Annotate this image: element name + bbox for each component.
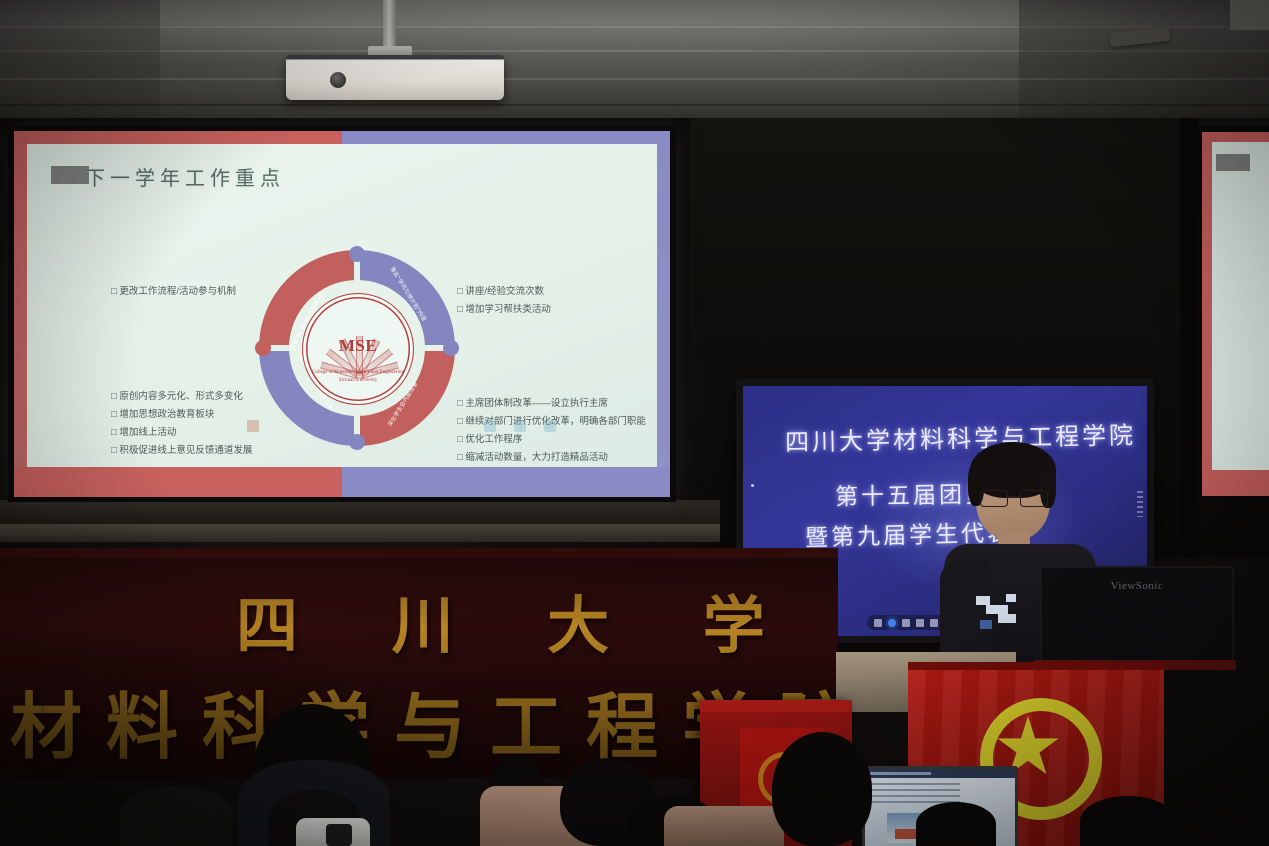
tray-app-icon[interactable] <box>539 420 561 433</box>
presentation-slide: 下一学年工作重点 □ 更改工作流程/活动参与机制 □ 原创内容多元化、形式多变化… <box>14 131 670 497</box>
list-item: □ 积极促进线上意见反馈通道发展 <box>111 443 252 459</box>
slide-canvas: 下一学年工作重点 □ 更改工作流程/活动参与机制 □ 原创内容多元化、形式多变化… <box>27 144 657 467</box>
puzzle-knob-left <box>255 340 271 356</box>
star-icon[interactable] <box>930 619 938 627</box>
eraser-icon[interactable] <box>902 619 910 627</box>
tray-wechat-icon[interactable] <box>509 420 531 433</box>
list-item: □ 增加学习帮扶类活动 <box>457 302 551 318</box>
slide-footer-bar <box>14 467 670 497</box>
tray-qq-icon[interactable] <box>479 420 501 433</box>
title-accent-block <box>51 166 89 184</box>
viewsonic-monitor: ViewSonic <box>1040 566 1234 666</box>
audience-head <box>120 786 232 846</box>
list-item: □ 增加思想政治教育板块 <box>111 407 252 423</box>
slide-title: 下一学年工作重点 <box>85 162 285 191</box>
bullet-list-bottom-left: □ 原创内容多元化、形式多变化 □ 增加思想政治教育板块 □ 增加线上活动 □ … <box>111 389 252 461</box>
whiteboard-side-menu[interactable] <box>1137 491 1143 517</box>
shapes-icon[interactable] <box>916 619 924 627</box>
list-item: □ 主席团体制改革——设立执行主席 <box>457 396 646 412</box>
audience-coat <box>664 806 784 846</box>
audience-head <box>1080 796 1176 846</box>
secondary-slide <box>1202 132 1269 496</box>
list-item: □ 缩减活动数量，大力打造精品活动 <box>457 450 646 466</box>
logo-acronym: MSE <box>303 336 413 356</box>
banner-line-1: 四 川 大 学 <box>236 575 801 665</box>
capture-icon[interactable] <box>874 619 882 627</box>
audience-head <box>916 802 996 846</box>
projector-lens <box>330 72 346 88</box>
puzzle-knob-top <box>349 246 365 262</box>
tray-upload-icon[interactable] <box>242 420 264 433</box>
projection-screen: 下一学年工作重点 □ 更改工作流程/活动参与机制 □ 原创内容多元化、形式多变化… <box>8 126 676 502</box>
puzzle-knob-right <box>443 340 459 356</box>
list-item: □ 更改工作流程/活动参与机制 <box>111 284 236 300</box>
secondary-title-accent <box>1216 154 1250 171</box>
list-item: □ 优化工作程序 <box>457 432 646 448</box>
audience-head <box>772 732 872 846</box>
list-item: □ 讲座/经验交流次数 <box>457 284 551 300</box>
list-item: □ 原创内容多元化、形式多变化 <box>111 389 252 405</box>
puzzle-knob-bottom <box>349 434 365 450</box>
laptop-titlebar <box>865 769 1015 778</box>
circular-puzzle-diagram: 促进“校-院-班”三级联动 落实“学风引领计划”内容 增加团属媒体打造能力展 深… <box>259 250 455 446</box>
scene-photo: 下一学年工作重点 □ 更改工作流程/活动参与机制 □ 原创内容多元化、形式多变化… <box>0 0 1269 846</box>
ceiling-pipe <box>1230 0 1269 30</box>
audience-collar <box>296 818 370 846</box>
ceiling-projector <box>286 55 504 100</box>
list-item: □ 增加线上活动 <box>111 425 252 441</box>
logo-line1: College of Materials Science and Enginee… <box>303 370 413 375</box>
secondary-projection-screen <box>1196 126 1269 502</box>
monitor-brand-label: ViewSonic <box>1042 580 1232 592</box>
glasses-icon <box>980 490 1048 505</box>
bullet-list-top-right: □ 讲座/经验交流次数 □ 增加学习帮扶类活动 <box>457 284 551 320</box>
mse-college-logo: MSE College of Materials Science and Eng… <box>302 293 414 405</box>
audience-head <box>1184 790 1269 846</box>
bullet-list-top-left: □ 更改工作流程/活动参与机制 <box>111 284 236 302</box>
projector-mount-pole <box>383 0 396 52</box>
logo-line2: Sichuan University <box>303 378 413 383</box>
ceiling <box>0 0 1269 122</box>
tshirt-graphic <box>976 590 1030 638</box>
pen-icon[interactable] <box>888 619 896 627</box>
